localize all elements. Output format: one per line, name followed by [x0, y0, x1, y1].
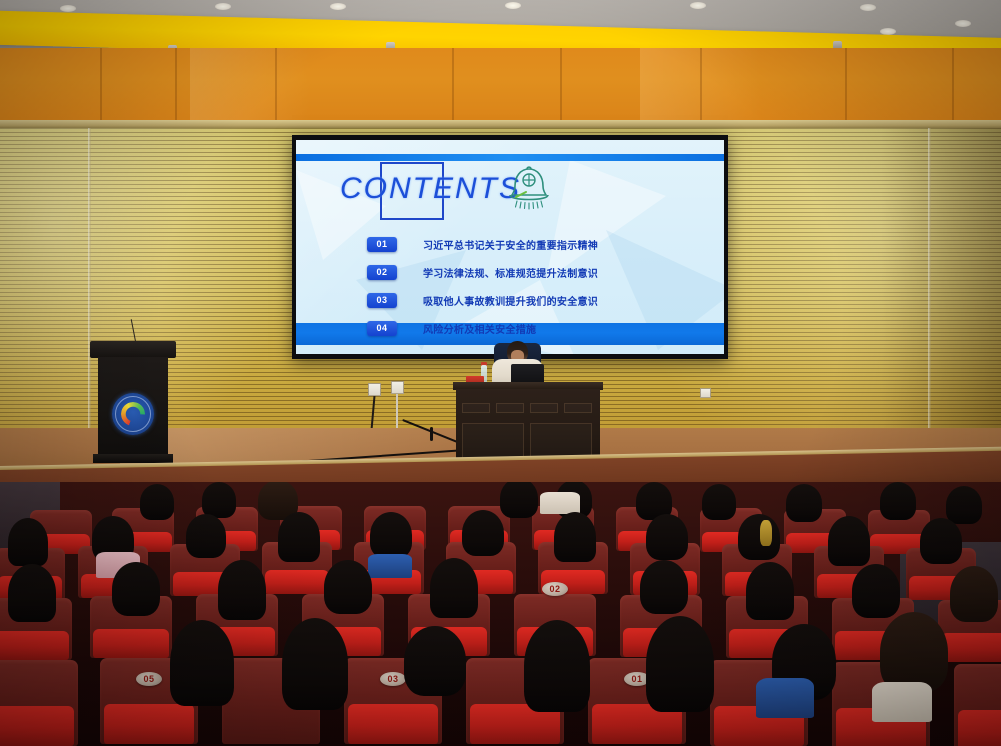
audience-member: [462, 510, 504, 556]
audience-member: [140, 484, 174, 520]
audience-member: [186, 514, 226, 558]
audience-member: [646, 514, 688, 560]
audience-member: [324, 560, 372, 614]
audience-clothing: [540, 492, 580, 514]
downlight: [955, 20, 971, 27]
downlight: [215, 3, 231, 10]
audience-member: [746, 562, 794, 620]
audience-member: [500, 482, 538, 518]
downlight: [690, 2, 706, 9]
audience-member: [946, 486, 982, 524]
podium-top: [90, 341, 176, 358]
audience-member: [828, 516, 870, 566]
audience-member: [112, 562, 160, 616]
audience-member: [920, 518, 962, 564]
audience-clothing: [368, 554, 412, 578]
audience-member: [404, 626, 466, 696]
audience-member: [950, 566, 998, 622]
audience-member: [8, 564, 56, 622]
item-number-badge: 04: [367, 321, 397, 336]
item-label: 学习法律法规、标准规范提升法制意识: [423, 265, 598, 280]
audience-member: [646, 616, 714, 712]
audience-member: [202, 482, 236, 518]
auditorium-scene: CONTENTS: [0, 0, 1001, 746]
audience-member: [430, 558, 478, 618]
seat-number-badge: 03: [380, 672, 406, 686]
seat-number-badge: 02: [542, 582, 568, 596]
podium-base: [93, 454, 173, 463]
item-label: 吸取他人事故教训提升我们的安全意识: [423, 293, 598, 308]
audience-member: [880, 612, 948, 692]
seat[interactable]: [954, 664, 1001, 746]
alarm-bell-icon: [504, 162, 554, 215]
audience-seating: 02 05 03 01: [0, 482, 1001, 746]
item-label: 风险分析及相关安全措施: [423, 321, 536, 336]
podium-body: [98, 357, 168, 455]
wall-socket: [391, 381, 404, 394]
audience-member: [282, 618, 348, 710]
item-number-badge: 02: [367, 265, 397, 280]
seat-number-badge: 05: [136, 672, 162, 686]
audience-hair-highlight: [760, 520, 772, 546]
projection-screen: CONTENTS: [292, 135, 728, 359]
slide-top-accent-bar: [296, 154, 724, 161]
downlight: [330, 3, 346, 10]
audience-member: [370, 512, 412, 558]
presentation-slide: CONTENTS: [296, 140, 724, 354]
lectern-podium: [95, 341, 171, 463]
list-item: 03 吸取他人事故教训提升我们的安全意识: [296, 288, 724, 313]
audience-member: [170, 620, 234, 706]
downlight: [860, 4, 876, 11]
audience-member: [738, 514, 780, 560]
downlight: [60, 5, 76, 12]
list-item: 01 习近平总书记关于安全的重要指示精神: [296, 232, 724, 257]
audience-member: [786, 484, 822, 522]
floor-cable: [430, 427, 433, 441]
list-item: 04 风险分析及相关安全措施: [296, 316, 724, 341]
wall-socket: [700, 388, 711, 398]
slide-contents-list: 01 习近平总书记关于安全的重要指示精神 02 学习法律法规、标准规范提升法制意…: [296, 232, 724, 344]
audience-member: [554, 512, 596, 562]
slide-heading: CONTENTS: [340, 172, 521, 206]
list-item: 02 学习法律法规、标准规范提升法制意识: [296, 260, 724, 285]
audience-clothing: [872, 682, 932, 722]
audience-member: [278, 512, 320, 562]
seat[interactable]: [0, 660, 78, 746]
downlight: [505, 2, 521, 9]
upper-wall-panels: [0, 48, 1001, 126]
audience-member: [640, 560, 688, 614]
item-label: 习近平总书记关于安全的重要指示精神: [423, 237, 598, 252]
audience-member: [218, 560, 266, 620]
audience-member: [880, 482, 916, 520]
audience-member: [524, 620, 590, 712]
item-number-badge: 01: [367, 237, 397, 252]
audience-member: [702, 484, 736, 520]
school-crest-emblem: [112, 393, 154, 435]
audience-member: [8, 518, 48, 566]
item-number-badge: 03: [367, 293, 397, 308]
wall-socket: [368, 383, 381, 396]
audience-clothing: [756, 678, 814, 718]
audience-member: [852, 564, 900, 618]
